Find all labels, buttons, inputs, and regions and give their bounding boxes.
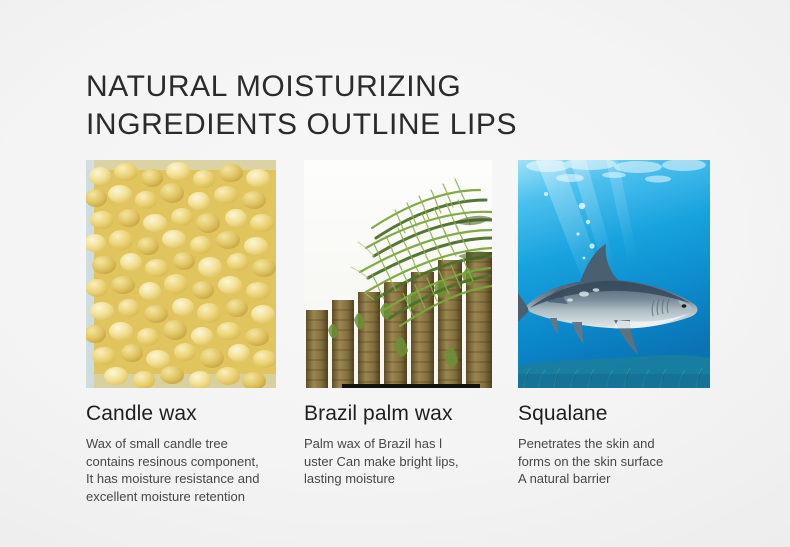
ingredient-card-squalane: Squalane Penetrates the skin and forms o… [518,160,710,488]
shark-underwater-photo [518,160,710,388]
beeswax-pellets-photo [86,160,276,388]
ingredient-card-brazil-palm-wax: Brazil palm wax Palm wax of Brazil has l… [304,160,492,488]
card-title: Candle wax [86,401,276,426]
card-body-line: forms on the skin surface [518,453,710,471]
card-body: Palm wax of Brazil has l uster Can make … [304,435,492,488]
card-body: Wax of small candle tree contains resino… [86,435,276,505]
card-body-line: A natural barrier [518,470,710,488]
infographic-page: NATURAL MOISTURIZING INGREDIENTS OUTLINE… [0,0,790,547]
card-body-line: It has moisture resistance and [86,470,276,488]
headline-line-1: NATURAL MOISTURIZING [86,68,706,106]
carnauba-palm-trees-photo [304,160,492,388]
card-body: Penetrates the skin and forms on the ski… [518,435,710,488]
headline-line-2: INGREDIENTS OUTLINE LIPS [86,106,706,144]
card-title: Brazil palm wax [304,401,492,426]
page-title: NATURAL MOISTURIZING INGREDIENTS OUTLINE… [86,68,706,144]
card-body-line: Penetrates the skin and [518,435,710,453]
ingredient-card-row: Candle wax Wax of small candle tree cont… [86,160,716,520]
card-body-line: Wax of small candle tree [86,435,276,453]
card-body-line: lasting moisture [304,470,492,488]
card-body-line: uster Can make bright lips, [304,453,492,471]
ingredient-card-candle-wax: Candle wax Wax of small candle tree cont… [86,160,276,505]
card-body-line: Palm wax of Brazil has l [304,435,492,453]
card-body-line: excellent moisture retention [86,488,276,506]
card-title: Squalane [518,401,710,426]
photo-letterbox-bar [342,384,480,388]
card-body-line: contains resinous component, [86,453,276,471]
